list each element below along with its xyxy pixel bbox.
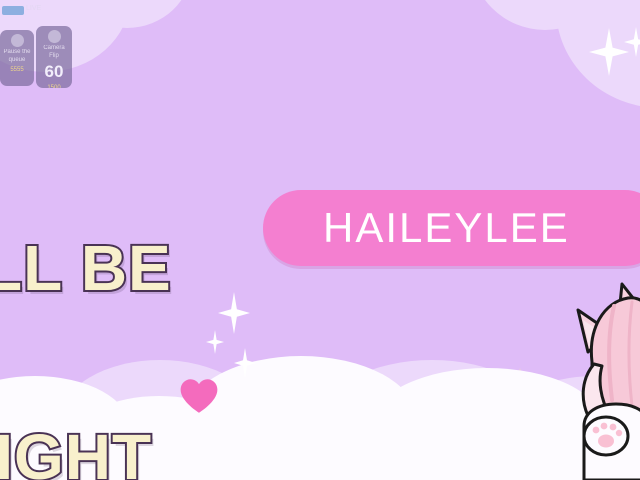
brb-stream-screen: I'LL BE RIGHT BACK HAILEYLEE LIVE bbox=[0, 0, 640, 480]
sparkle-icon-top-2 bbox=[624, 27, 640, 57]
overlay-card-value: 60 bbox=[36, 63, 72, 82]
live-badge bbox=[2, 6, 24, 15]
cloud-blob-top-right-2 bbox=[470, 0, 620, 30]
live-badge-label: LIVE bbox=[26, 5, 41, 12]
purple-star-icon bbox=[382, 415, 416, 449]
overlay-card-price: 5555 bbox=[0, 67, 34, 73]
sparkle-icon-top-1 bbox=[589, 28, 629, 76]
cloud-blob-top-left-2 bbox=[62, 0, 192, 28]
vtuber-avatar bbox=[558, 266, 640, 480]
overlay-card-title: Pause the queue bbox=[0, 49, 34, 64]
streamer-name-banner: HAILEYLEE bbox=[263, 190, 640, 266]
cloud-blob-top-right-1 bbox=[556, 0, 640, 108]
overlay-card-camera-flip[interactable]: Camera Flip 60 1500 bbox=[36, 26, 72, 88]
streamer-name: HAILEYLEE bbox=[263, 204, 570, 252]
coin-icon bbox=[11, 34, 24, 47]
overlay-card-price: 1500 bbox=[36, 85, 72, 88]
overlay-card-title: Camera Flip bbox=[36, 45, 72, 60]
coin-icon bbox=[48, 30, 61, 43]
page-title: I'LL BE RIGHT BACK bbox=[0, 112, 368, 480]
overlay-card-pause-queue[interactable]: Pause the queue 5555 bbox=[0, 30, 34, 86]
headline-line-2: RIGHT bbox=[0, 426, 368, 480]
yellow-sparkle-icon bbox=[503, 368, 537, 424]
